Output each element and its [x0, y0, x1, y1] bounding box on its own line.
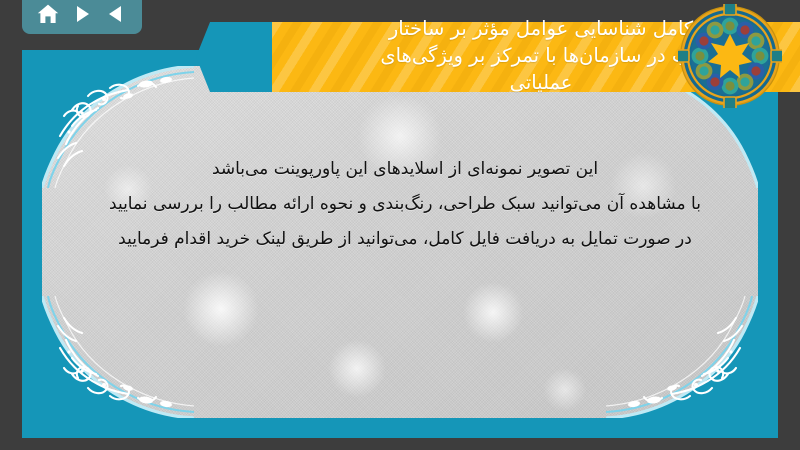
islimi-filigree-corner-ornament — [42, 296, 194, 418]
slide-frame: این تصویر نمونه‌ای از اسلایدهای این پاور… — [22, 50, 778, 438]
body-line-1: این تصویر نمونه‌ای از اسلایدهای این پاور… — [82, 152, 728, 187]
title-band-arrow-tab — [196, 22, 274, 92]
previous-slide-button[interactable] — [103, 1, 129, 27]
previous-triangle-icon — [105, 3, 127, 25]
islimi-filigree-corner-ornament — [606, 296, 758, 418]
next-slide-button[interactable] — [69, 1, 95, 27]
navigation-bar — [22, 0, 142, 34]
next-triangle-icon — [71, 3, 93, 25]
home-icon — [36, 2, 60, 26]
body-line-2: با مشاهده آن می‌توانید سبک طراحی، رنگ‌بن… — [82, 187, 728, 222]
body-line-3: در صورت تمایل به دریافت فایل کامل، می‌تو… — [82, 222, 728, 257]
circular-arabesque-medallion — [678, 4, 782, 108]
slide-viewer: این تصویر نمونه‌ای از اسلایدهای این پاور… — [0, 0, 800, 450]
slide-body-text: این تصویر نمونه‌ای از اسلایدهای این پاور… — [82, 152, 728, 257]
slide-content-panel: این تصویر نمونه‌ای از اسلایدهای این پاور… — [42, 66, 758, 418]
home-button[interactable] — [35, 1, 61, 27]
